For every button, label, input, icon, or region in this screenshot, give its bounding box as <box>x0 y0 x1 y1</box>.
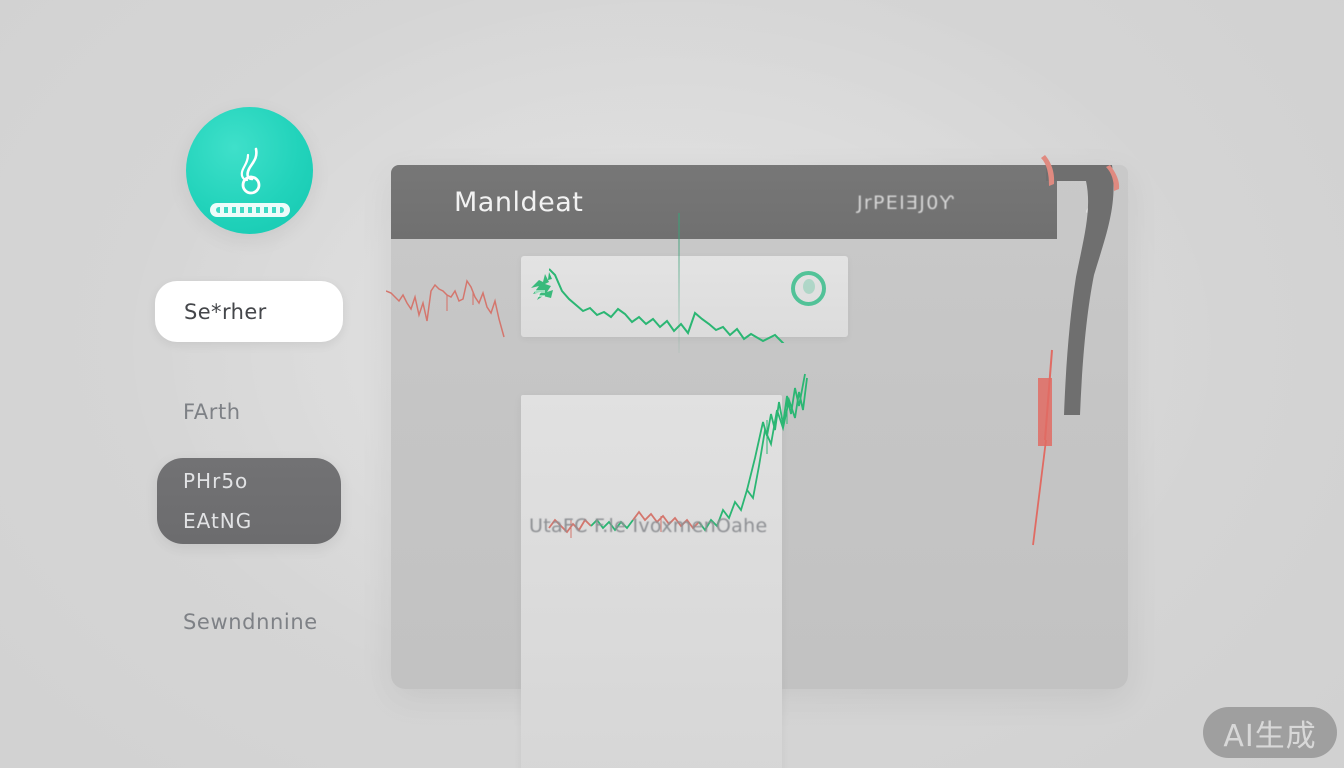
sidebar-item-3[interactable]: Sewndnnine <box>183 610 318 634</box>
market-summary-card[interactable] <box>521 256 848 337</box>
card2-caption: UtaFC F.le IvoxmenOahe <box>529 515 767 537</box>
ai-generated-watermark: AI生成 <box>1203 707 1337 758</box>
page-title: Manldeat <box>454 187 583 218</box>
card2-rising-chart <box>541 370 811 580</box>
sidebar: Se*rher FArth PHr5o EAtNG Sewndnnine <box>0 0 380 768</box>
sidebar-item-1[interactable]: FArth <box>183 400 241 424</box>
search-input[interactable]: Se*rher <box>155 281 343 342</box>
green-status-ring[interactable] <box>791 271 826 306</box>
logo-badge <box>210 203 290 217</box>
panel-header-meta: JrPEIƎJ0Ƴ <box>857 192 955 214</box>
watermark-label: AI生成 <box>1223 711 1316 755</box>
ring-tail-line <box>678 213 680 353</box>
panel-header: Manldeat JrPEIƎJ0Ƴ <box>391 165 1057 239</box>
app-logo[interactable] <box>186 107 313 234</box>
search-input-value: Se*rher <box>184 300 267 324</box>
main-panel: Manldeat JrPEIƎJ0Ƴ <box>391 165 1128 689</box>
sidebar-item-2-label-line1: PHr5o <box>183 469 248 493</box>
flame-droplet-icon <box>226 145 274 197</box>
market-detail-card[interactable]: UtaFC F.le IvoxmenOahe <box>521 395 782 768</box>
sidebar-item-2-label-line2: EAtNG <box>183 509 252 533</box>
sidebar-item-2-active[interactable]: PHr5o EAtNG <box>157 458 341 544</box>
card1-declining-chart <box>549 261 799 343</box>
red-declining-sparkline <box>386 275 516 345</box>
red-candlestick <box>1021 150 1151 570</box>
